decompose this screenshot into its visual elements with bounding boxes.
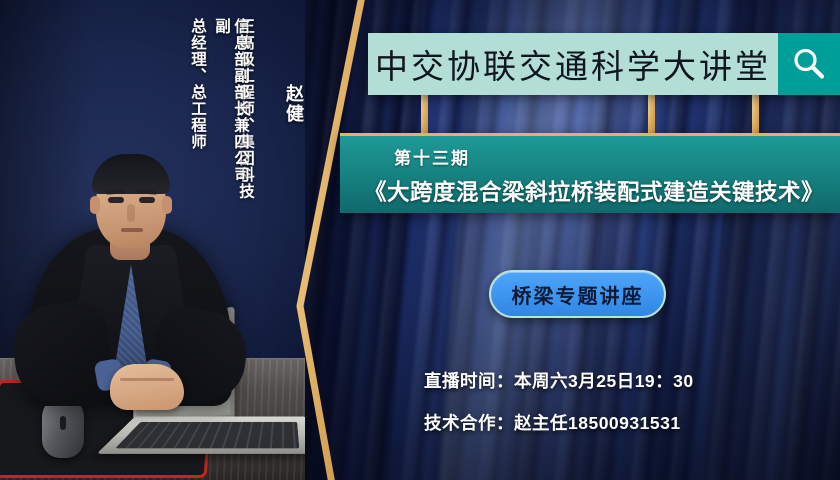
episode-number: 第十三期: [394, 144, 826, 169]
speaker-title-line2: 信息部副部长兼四公司副: [212, 18, 250, 194]
speaker-photo: [0, 80, 305, 480]
nose: [127, 204, 135, 222]
livestream-poster: 正高级工程师、集团科技 信息部副部长兼四公司副 总经理、总工程师 赵健 中交协联…: [0, 0, 840, 480]
eye-left: [108, 197, 124, 203]
speaker-title-line3: 总经理、总工程师: [188, 18, 207, 158]
ear-right: [162, 196, 172, 214]
topic-tag-button[interactable]: 桥梁专题讲座: [489, 270, 666, 318]
mouth: [121, 228, 143, 232]
laptop-keyboard: [115, 422, 299, 448]
brand-title-text: 中交协联交通科学大讲堂: [368, 33, 778, 95]
laptop-base: [96, 416, 305, 453]
hair: [92, 154, 170, 194]
broadcast-time: 直播时间：本周六3月25日19：30: [424, 368, 694, 393]
speaker-name: 赵健: [283, 84, 304, 144]
episode-title: 《大跨度混合梁斜拉桥装配式建造关键技术》: [362, 175, 826, 207]
brand-title-banner: 中交协联交通科学大讲堂: [368, 33, 840, 95]
clasped-hands: [110, 364, 184, 410]
cooperation-contact: 技术合作：赵主任18500931531: [424, 410, 681, 435]
ear-left: [90, 196, 100, 214]
episode-band: 第十三期 《大跨度混合梁斜拉桥装配式建造关键技术》: [340, 133, 840, 213]
speaker-panel: 正高级工程师、集团科技 信息部副部长兼四公司副 总经理、总工程师 赵健: [0, 0, 305, 480]
eye-right: [139, 197, 155, 203]
search-icon[interactable]: [778, 33, 840, 95]
